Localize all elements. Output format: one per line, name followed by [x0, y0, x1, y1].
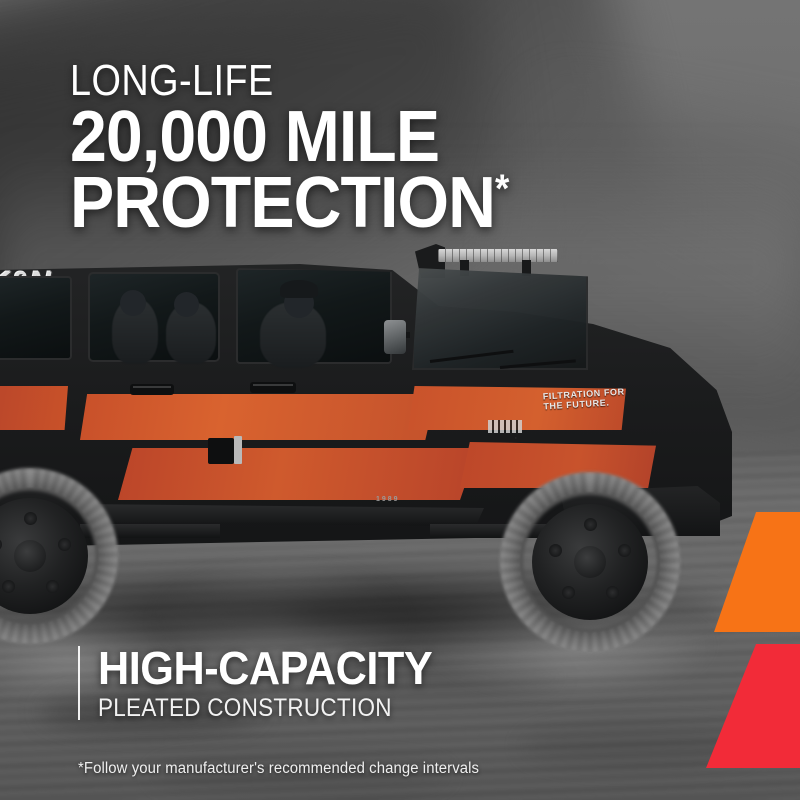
headline-line-2: PROTECTION* — [70, 170, 640, 236]
front-hub — [574, 546, 606, 578]
subhead-title: HIGH-CAPACITY — [98, 644, 662, 692]
lug-nut — [24, 512, 37, 525]
livery-panel — [118, 448, 478, 500]
light-bar-lens-grid — [438, 249, 558, 262]
lug-nut — [584, 518, 597, 531]
rear-hub — [14, 540, 46, 572]
headline-asterisk: * — [495, 167, 509, 211]
headline-block: LONG-LIFE 20,000 MILE PROTECTION* — [70, 58, 690, 236]
door-hinge — [208, 438, 234, 464]
subhead-caption: PLEATED CONSTRUCTION — [98, 694, 638, 722]
lug-nut — [606, 586, 619, 599]
front-rim — [532, 504, 648, 620]
handle-highlight — [253, 384, 293, 386]
door-hinge-pin — [234, 436, 242, 464]
year-badge: 1989 — [376, 496, 400, 503]
passenger-head — [120, 290, 146, 316]
footnote-text: *Follow your manufacturer's recommended … — [78, 760, 479, 778]
vehicle-suv: K&N FILTRATION FOR — [0, 236, 760, 656]
passenger-head — [174, 292, 199, 317]
flag-decal — [488, 420, 522, 433]
lug-nut — [2, 580, 15, 593]
driver-cap — [280, 280, 318, 298]
side-mirror — [384, 320, 406, 354]
door-handle — [250, 382, 296, 393]
lug-nut — [549, 544, 562, 557]
promo-banner: K&N FILTRATION FOR — [0, 0, 800, 800]
headline-line-1: 20,000 MILE — [70, 104, 640, 170]
subhead-block: HIGH-CAPACITY PLEATED CONSTRUCTION — [78, 644, 698, 722]
livery-panel — [80, 394, 436, 440]
front-wheel — [500, 472, 680, 652]
door-handle — [130, 384, 174, 395]
roof-light-bar — [438, 249, 558, 262]
headline-line-2-text: PROTECTION — [70, 163, 495, 243]
lug-nut — [58, 538, 71, 551]
handle-highlight — [133, 386, 171, 388]
lug-nut — [46, 580, 59, 593]
lug-nut — [0, 538, 2, 551]
window-rear — [0, 276, 72, 360]
lug-nut — [562, 586, 575, 599]
subhead-divider-rule — [78, 646, 80, 720]
livery-panel — [0, 386, 68, 430]
lug-nut — [618, 544, 631, 557]
